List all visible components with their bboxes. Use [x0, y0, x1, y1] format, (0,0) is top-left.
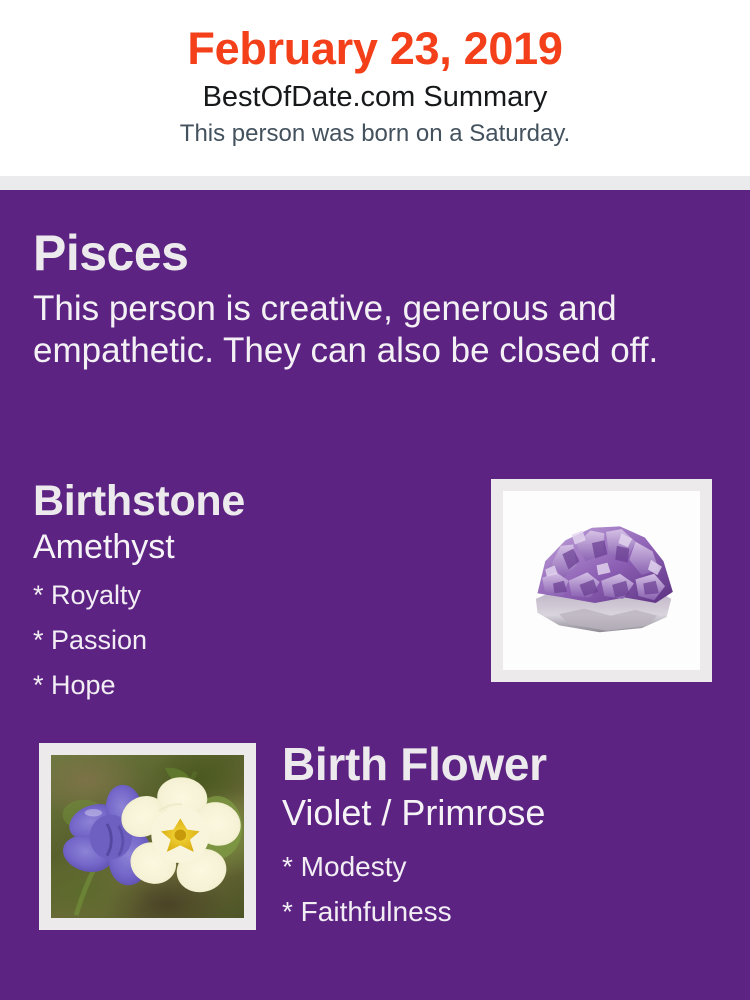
birthstone-title: Birthstone	[33, 477, 473, 526]
zodiac-description: This person is creative, generous and em…	[33, 288, 705, 372]
birth-flower-image	[51, 755, 244, 918]
violet-and-primrose-icon	[51, 755, 244, 918]
flower-photo-background	[51, 755, 244, 918]
birth-flower-name: Violet / Primrose	[282, 791, 722, 834]
content-panel: Pisces This person is creative, generous…	[0, 190, 750, 1000]
day-of-week-text: This person was born on a Saturday.	[0, 118, 750, 149]
zodiac-section: Pisces This person is creative, generous…	[33, 225, 713, 372]
list-item: * Modesty	[282, 844, 722, 889]
header-divider	[0, 176, 750, 190]
amethyst-crystal-icon	[525, 511, 681, 643]
site-name-subtitle: BestOfDate.com Summary	[0, 79, 750, 116]
card-header: February 23, 2019 BestOfDate.com Summary…	[0, 0, 750, 176]
birthstone-name: Amethyst	[33, 527, 473, 567]
list-item: * Royalty	[33, 573, 473, 618]
list-item: * Faithfulness	[282, 889, 722, 934]
birthstone-trait-list: * Royalty * Passion * Hope	[33, 573, 473, 708]
birth-flower-section: Birth Flower Violet / Primrose * Modesty…	[282, 738, 722, 934]
birth-flower-trait-list: * Modesty * Faithfulness	[282, 844, 722, 934]
birthstone-image-frame	[491, 479, 712, 682]
zodiac-sign-title: Pisces	[33, 225, 713, 281]
birthstone-section: Birthstone Amethyst * Royalty * Passion …	[33, 477, 473, 708]
amethyst-photo-background	[503, 491, 700, 670]
summary-card: February 23, 2019 BestOfDate.com Summary…	[0, 0, 750, 1000]
birth-flower-title: Birth Flower	[282, 738, 722, 790]
list-item: * Passion	[33, 618, 473, 663]
page-title-date: February 23, 2019	[0, 22, 750, 76]
birthstone-image	[503, 491, 700, 670]
list-item: * Hope	[33, 663, 473, 708]
birth-flower-image-frame	[39, 743, 256, 930]
